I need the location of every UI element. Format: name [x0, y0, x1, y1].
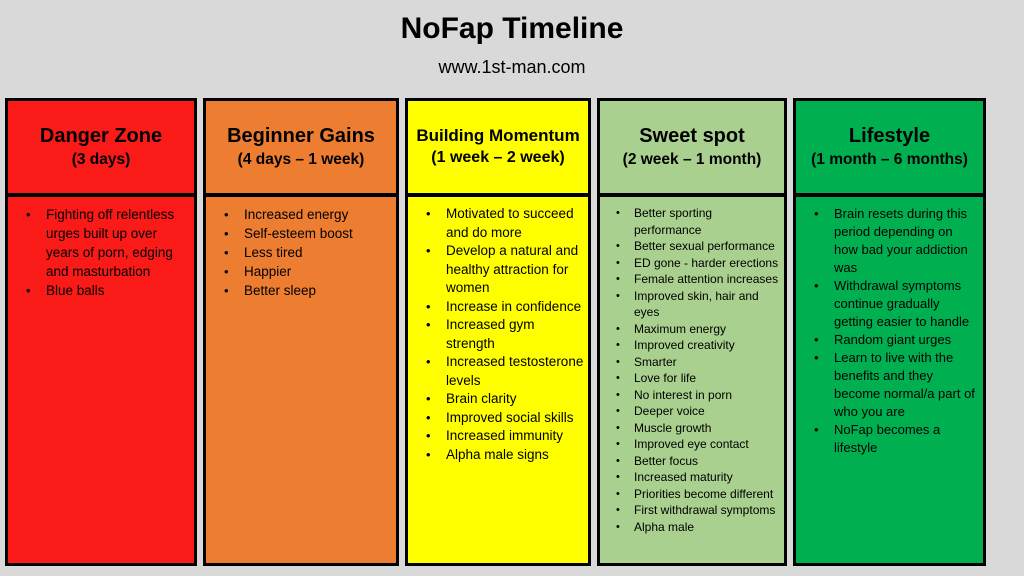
list-item: Develop a natural and healthy attraction… — [412, 242, 584, 298]
list-item: Priorities become different — [604, 486, 780, 503]
list-item: Withdrawal symptoms continue gradually g… — [800, 277, 979, 331]
benefit-list: Better sporting performance Better sexua… — [604, 205, 780, 535]
list-item: Improved social skills — [412, 409, 584, 428]
list-item: Deeper voice — [604, 403, 780, 420]
stage-body-building-momentum: Motivated to succeed and do more Develop… — [405, 197, 591, 566]
list-item: Increased energy — [210, 205, 392, 224]
list-item: Increased gym strength — [412, 316, 584, 353]
list-item: Better focus — [604, 453, 780, 470]
list-item: Improved skin, hair and eyes — [604, 288, 780, 321]
list-item: Maximum energy — [604, 321, 780, 338]
benefit-list: Fighting off relentless urges built up o… — [12, 205, 190, 300]
timeline-stage-beginner-gains: Beginner Gains (4 days – 1 week) Increas… — [203, 98, 399, 566]
stage-header-danger-zone: Danger Zone (3 days) — [5, 98, 197, 197]
list-item: Brain clarity — [412, 390, 584, 409]
list-item: Alpha male signs — [412, 446, 584, 465]
list-item: Female attention increases — [604, 271, 780, 288]
list-item: First withdrawal symptoms — [604, 502, 780, 519]
benefit-list: Increased energy Self-esteem boost Less … — [210, 205, 392, 300]
timeline-stage-building-momentum: Building Momentum (1 week – 2 week) Moti… — [405, 98, 591, 566]
list-item: Love for life — [604, 370, 780, 387]
infographic-header: NoFap Timeline www.1st-man.com — [0, 0, 1024, 96]
stage-header-sweet-spot: Sweet spot (2 week – 1 month) — [597, 98, 787, 197]
stage-body-lifestyle: Brain resets during this period dependin… — [793, 197, 986, 566]
benefit-list: Motivated to succeed and do more Develop… — [412, 205, 584, 464]
list-item: Happier — [210, 262, 392, 281]
stage-range: (1 month – 6 months) — [811, 149, 968, 171]
list-item: Better sexual performance — [604, 238, 780, 255]
stage-name: Sweet spot — [639, 124, 745, 149]
stage-range: (2 week – 1 month) — [623, 149, 762, 171]
timeline-columns: Danger Zone (3 days) Fighting off relent… — [0, 98, 1024, 570]
stage-body-beginner-gains: Increased energy Self-esteem boost Less … — [203, 197, 399, 566]
list-item: Better sporting performance — [604, 205, 780, 238]
list-item: No interest in porn — [604, 387, 780, 404]
page-title: NoFap Timeline — [401, 10, 624, 48]
list-item: ED gone - harder erections — [604, 255, 780, 272]
stage-name: Building Momentum — [416, 125, 579, 147]
stage-name: Lifestyle — [849, 124, 930, 149]
stage-header-beginner-gains: Beginner Gains (4 days – 1 week) — [203, 98, 399, 197]
list-item: Increase in confidence — [412, 298, 584, 317]
stage-body-danger-zone: Fighting off relentless urges built up o… — [5, 197, 197, 566]
list-item: Alpha male — [604, 519, 780, 536]
stage-range: (4 days – 1 week) — [238, 149, 365, 171]
stage-header-building-momentum: Building Momentum (1 week – 2 week) — [405, 98, 591, 197]
list-item: NoFap becomes a lifestyle — [800, 421, 979, 457]
page-subtitle-website: www.1st-man.com — [438, 54, 585, 80]
benefit-list: Brain resets during this period dependin… — [800, 205, 979, 457]
stage-name: Beginner Gains — [227, 124, 375, 149]
list-item: Increased testosterone levels — [412, 353, 584, 390]
list-item: Less tired — [210, 243, 392, 262]
stage-range: (3 days) — [72, 149, 131, 171]
list-item: Better sleep — [210, 281, 392, 300]
stage-header-lifestyle: Lifestyle (1 month – 6 months) — [793, 98, 986, 197]
list-item: Improved eye contact — [604, 436, 780, 453]
list-item: Fighting off relentless urges built up o… — [12, 205, 190, 281]
timeline-stage-danger-zone: Danger Zone (3 days) Fighting off relent… — [5, 98, 197, 566]
stage-range: (1 week – 2 week) — [431, 147, 564, 169]
list-item: Random giant urges — [800, 331, 979, 349]
list-item: Increased maturity — [604, 469, 780, 486]
list-item: Motivated to succeed and do more — [412, 205, 584, 242]
stage-body-sweet-spot: Better sporting performance Better sexua… — [597, 197, 787, 566]
list-item: Brain resets during this period dependin… — [800, 205, 979, 277]
timeline-stage-lifestyle: Lifestyle (1 month – 6 months) Brain res… — [793, 98, 986, 566]
stage-name: Danger Zone — [40, 124, 162, 149]
list-item: Learn to live with the benefits and they… — [800, 349, 979, 421]
list-item: Improved creativity — [604, 337, 780, 354]
list-item: Muscle growth — [604, 420, 780, 437]
timeline-stage-sweet-spot: Sweet spot (2 week – 1 month) Better spo… — [597, 98, 787, 566]
list-item: Self-esteem boost — [210, 224, 392, 243]
list-item: Blue balls — [12, 281, 190, 300]
list-item: Increased immunity — [412, 427, 584, 446]
list-item: Smarter — [604, 354, 780, 371]
